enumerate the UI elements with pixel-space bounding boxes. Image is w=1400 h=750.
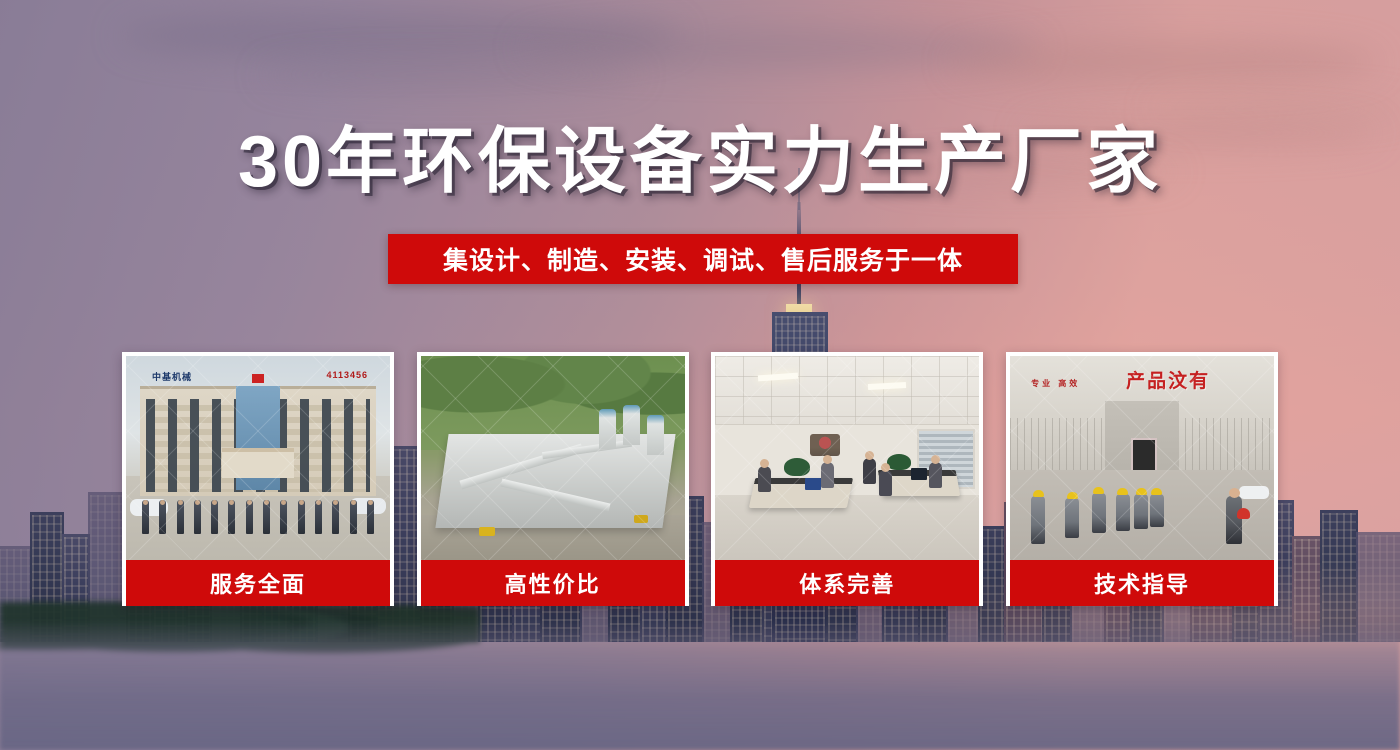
feature-card-training[interactable]: 专业 高效 产品汶有 技术指导 <box>1006 352 1278 606</box>
card-label-value: 高性价比 <box>421 560 685 606</box>
wall-emblem-icon <box>810 434 840 456</box>
red-helmet-icon <box>1237 508 1250 519</box>
page-title: 30年环保设备实力生产厂家 <box>0 126 1400 198</box>
feature-card-value[interactable]: 高性价比 <box>417 352 689 606</box>
building-sign-text: 中基机械 <box>152 370 192 383</box>
card-label-training: 技术指导 <box>1010 560 1274 606</box>
cloud-shape <box>950 40 1380 84</box>
building-phone-text: 4113456 <box>326 370 368 380</box>
feature-card-system[interactable]: 体系完善 <box>711 352 983 606</box>
cloud-shape <box>520 28 1040 68</box>
factory-slogan-small: 专业 高效 <box>1031 378 1080 389</box>
factory-slogan-text: 产品汶有 <box>1126 366 1210 393</box>
subtitle-banner: 集设计、制造、安装、调试、售后服务于一体 <box>388 234 1018 284</box>
flag-icon <box>252 374 264 383</box>
card-label-service: 服务全面 <box>126 560 390 606</box>
photo-production-plant <box>421 356 685 560</box>
river-foreground <box>0 620 1400 750</box>
photo-workers-factory: 专业 高效 产品汶有 <box>1010 356 1274 560</box>
photo-office-interior <box>715 356 979 560</box>
cloud-shape <box>1150 96 1400 122</box>
feature-card-row: 中基机械 4113456 服务全面 高性价比 <box>122 352 1278 606</box>
feature-card-service[interactable]: 中基机械 4113456 服务全面 <box>122 352 394 606</box>
cloud-shape <box>120 10 680 62</box>
photo-company-building: 中基机械 4113456 <box>126 356 390 560</box>
promo-banner: 30年环保设备实力生产厂家 集设计、制造、安装、调试、售后服务于一体 中基机械 … <box>0 0 1400 750</box>
cloud-shape <box>260 60 640 90</box>
card-label-system: 体系完善 <box>715 560 979 606</box>
